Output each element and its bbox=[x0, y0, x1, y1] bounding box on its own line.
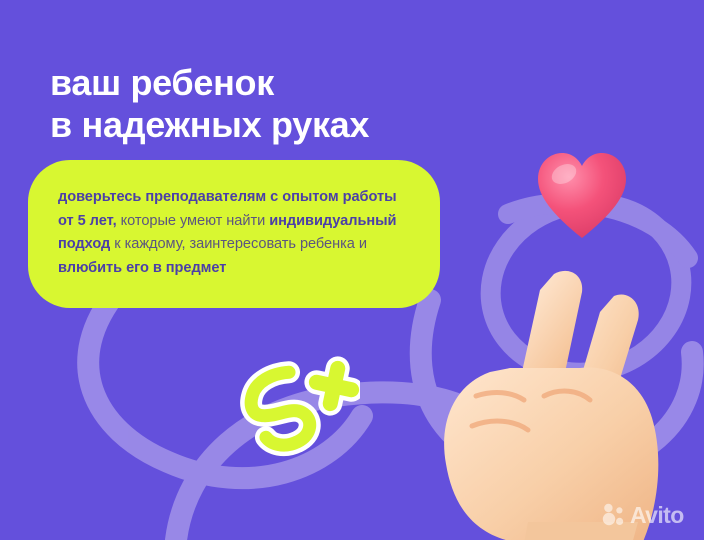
avito-dots-icon bbox=[602, 503, 626, 527]
avito-logo: Avito bbox=[602, 500, 694, 530]
poster-canvas: ваш ребенок в надежных руках доверьтесь … bbox=[0, 0, 704, 540]
callout-card: доверьтесь преподавателям с опытом работ… bbox=[28, 160, 440, 308]
five-plus-badge bbox=[232, 356, 360, 458]
headline: ваш ребенок в надежных руках bbox=[50, 62, 610, 147]
avito-wordmark: Avito bbox=[630, 504, 684, 527]
heart-icon bbox=[536, 150, 628, 244]
callout-text: доверьтесь преподавателям с опытом работ… bbox=[58, 186, 410, 281]
